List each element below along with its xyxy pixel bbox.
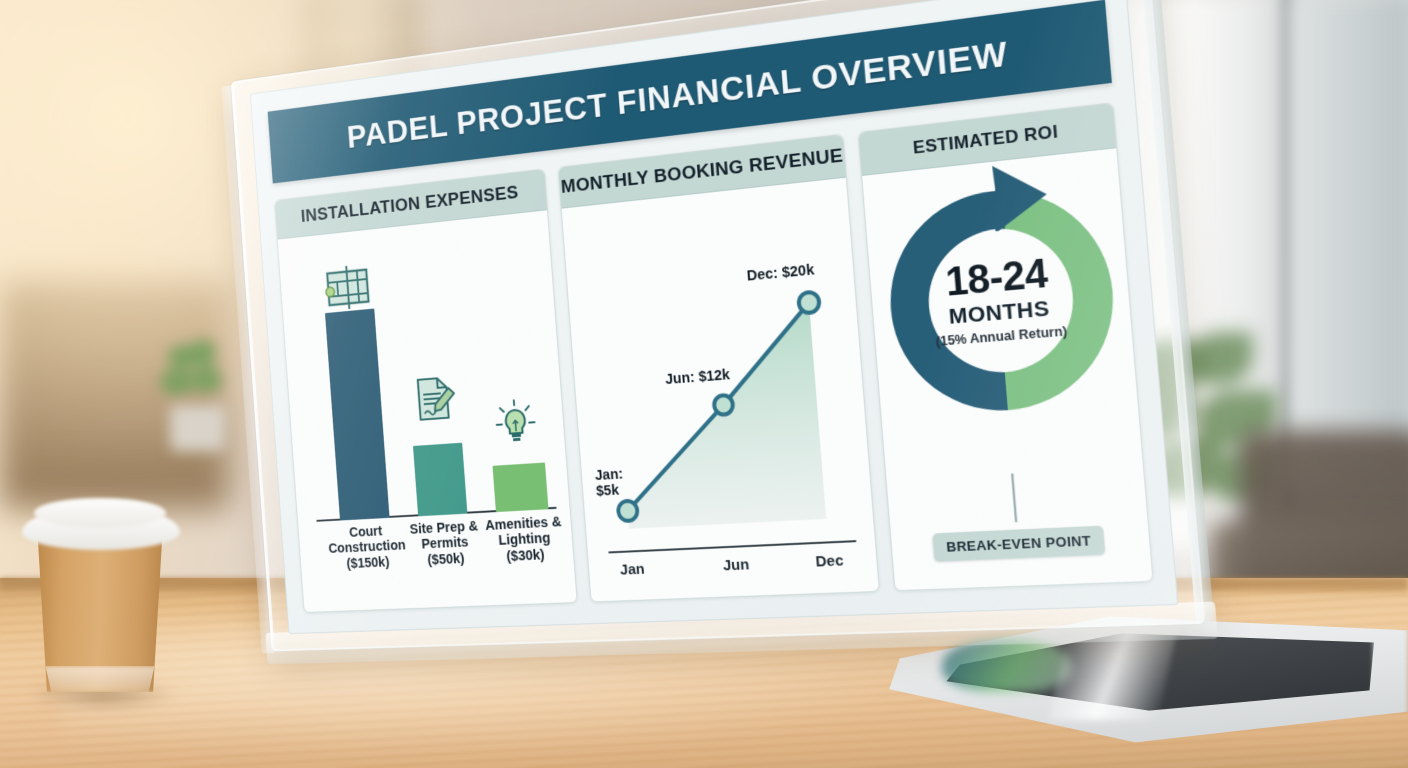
roi-chart: 18-24 MONTHS (15% Annual Return) BREAK-E… — [862, 148, 1152, 590]
coffee-cup — [18, 470, 188, 710]
point-label-jan: Jan: $5k — [595, 466, 650, 500]
window-pane-right — [1288, 0, 1408, 490]
x-tick-jan: Jan — [619, 561, 645, 579]
office-scene: PADEL PROJECT FINANCIAL OVERVIEW INSTALL… — [0, 0, 1408, 768]
lightbulb-icon — [488, 396, 544, 450]
panel-title-roi: ESTIMATED ROI — [912, 121, 1059, 158]
installation-chart: Court Construction ($150k) — [278, 210, 577, 612]
bar-chart: Court Construction ($150k) — [293, 211, 566, 611]
panel-installation-expenses: INSTALLATION EXPENSES — [274, 168, 578, 613]
cup-lid-top — [34, 498, 166, 528]
plant-pot — [170, 405, 226, 451]
cup-base-band — [42, 666, 158, 692]
bar-court-construction[interactable] — [325, 309, 390, 521]
roi-donut: 18-24 MONTHS (15% Annual Return) BREAK-E… — [862, 148, 1152, 590]
bar-amenities[interactable] — [492, 463, 548, 513]
acrylic-sign-stand: PADEL PROJECT FINANCIAL OVERVIEW INSTALL… — [231, 0, 1242, 670]
permit-document-icon — [407, 372, 462, 425]
x-tick-dec: Dec — [815, 552, 844, 571]
padel-court-icon — [322, 262, 375, 315]
panel-monthly-revenue: MONTHLY BOOKING REVENUE — [558, 134, 880, 603]
roi-center-text: 18-24 MONTHS (15% Annual Return) — [905, 250, 1094, 351]
panel-estimated-roi: ESTIMATED ROI — [858, 102, 1154, 591]
bar-site-prep[interactable] — [413, 443, 467, 517]
